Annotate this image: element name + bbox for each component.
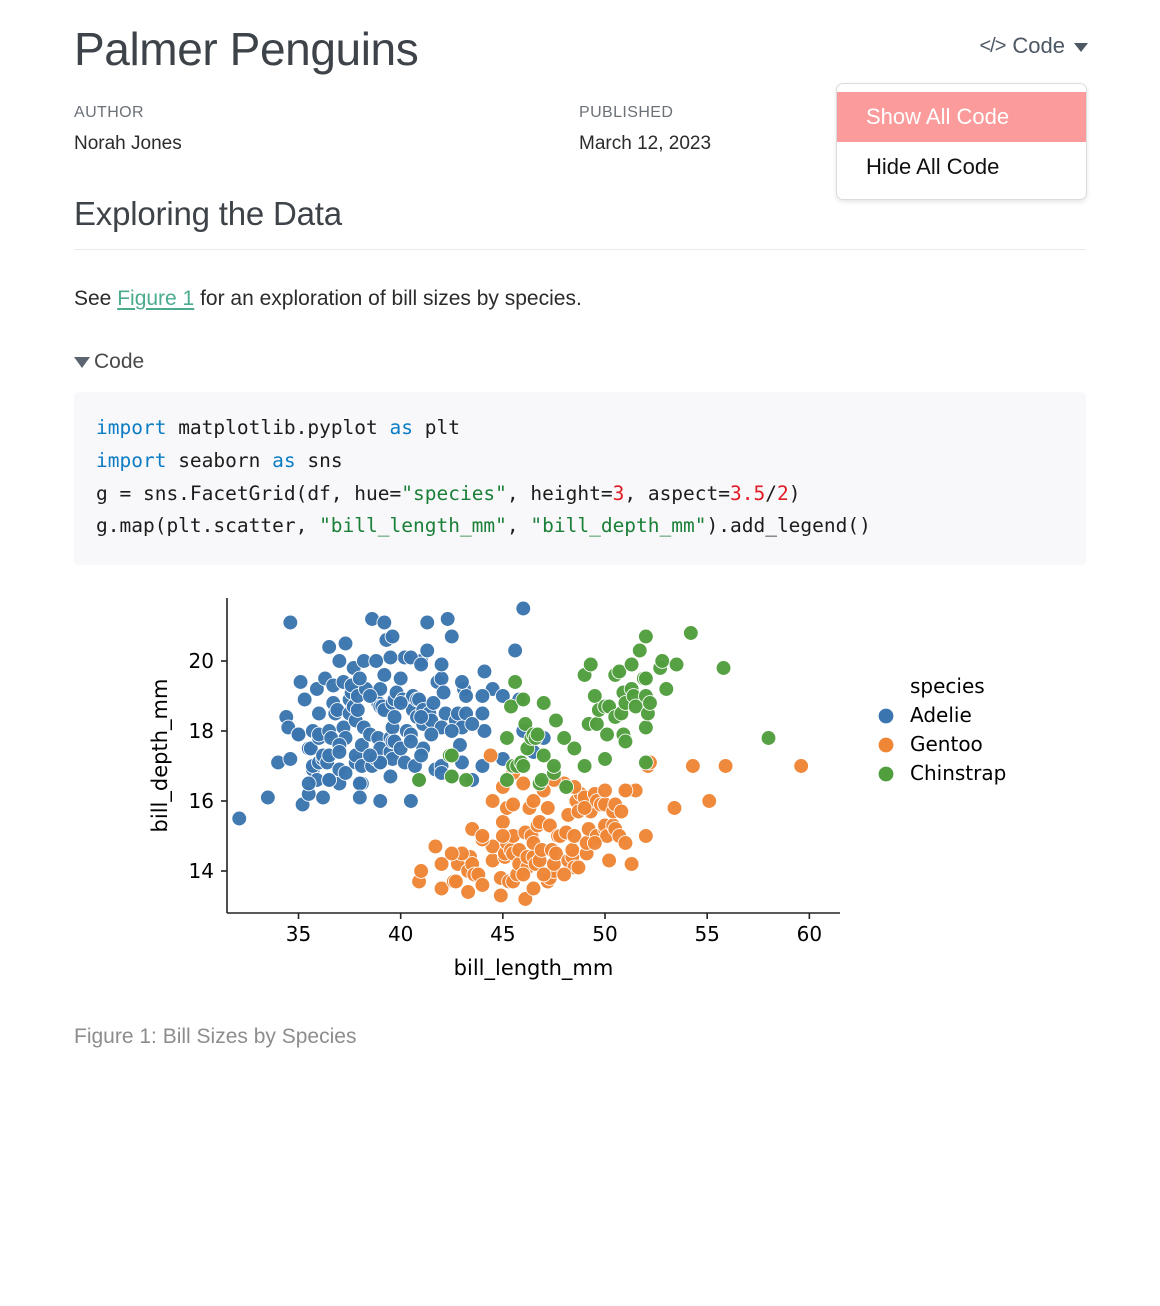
x-axis-label: bill_length_mm <box>454 956 614 981</box>
published-label: PUBLISHED <box>579 99 1084 126</box>
document-page: </> Code Show All Code Hide All Code Pal… <box>0 0 1160 1306</box>
x-tick-label: 45 <box>490 922 515 946</box>
legend-swatch <box>879 738 894 753</box>
y-axis-label: bill_depth_mm <box>148 679 173 833</box>
section-heading: Exploring the Data <box>74 195 1086 250</box>
paragraph-text-post: for an exploration of bill sizes by spec… <box>194 287 582 310</box>
x-tick-label: 40 <box>388 922 413 946</box>
code-block: import matplotlib.pyplot as plt import s… <box>74 392 1086 565</box>
code-content: import matplotlib.pyplot as plt import s… <box>96 416 871 537</box>
document-metadata: AUTHOR Norah Jones PUBLISHED March 12, 2… <box>74 99 1086 160</box>
legend-label: Adelie <box>910 703 972 727</box>
intro-paragraph: See Figure 1 for an exploration of bill … <box>74 284 1086 314</box>
x-tick-label: 60 <box>797 922 822 946</box>
y-tick-label: 14 <box>189 859 214 883</box>
legend-swatch <box>879 767 894 782</box>
y-tick-label: 16 <box>189 789 214 813</box>
x-tick-label: 50 <box>592 922 617 946</box>
scatter-series-gentoo <box>412 748 809 906</box>
scatter-plot: 35404550556014161820bill_length_mmbill_d… <box>74 583 1086 1003</box>
figure-caption: Figure 1: Bill Sizes by Species <box>74 1025 1086 1049</box>
legend-title: species <box>910 674 985 698</box>
caret-down-icon <box>74 357 90 368</box>
published-value: March 12, 2023 <box>579 128 1084 160</box>
page-title: Palmer Penguins <box>74 22 1086 77</box>
code-fold-label: Code <box>94 350 144 374</box>
author-block: AUTHOR Norah Jones <box>74 99 579 160</box>
figure-1-link[interactable]: Figure 1 <box>117 287 194 310</box>
published-block: PUBLISHED March 12, 2023 <box>579 99 1084 160</box>
paragraph-text-pre: See <box>74 287 117 310</box>
y-tick-label: 18 <box>189 719 214 743</box>
document-content: Palmer Penguins AUTHOR Norah Jones PUBLI… <box>74 0 1086 1049</box>
y-tick-label: 20 <box>189 649 214 673</box>
figure-1: 35404550556014161820bill_length_mmbill_d… <box>74 583 1086 1003</box>
legend-swatch <box>879 709 894 724</box>
legend-label: Chinstrap <box>910 761 1006 785</box>
code-fold-toggle[interactable]: Code <box>74 350 1086 374</box>
legend-label: Gentoo <box>910 732 983 756</box>
author-value: Norah Jones <box>74 128 579 160</box>
x-tick-label: 55 <box>694 922 719 946</box>
x-tick-label: 35 <box>286 922 311 946</box>
author-label: AUTHOR <box>74 99 579 126</box>
